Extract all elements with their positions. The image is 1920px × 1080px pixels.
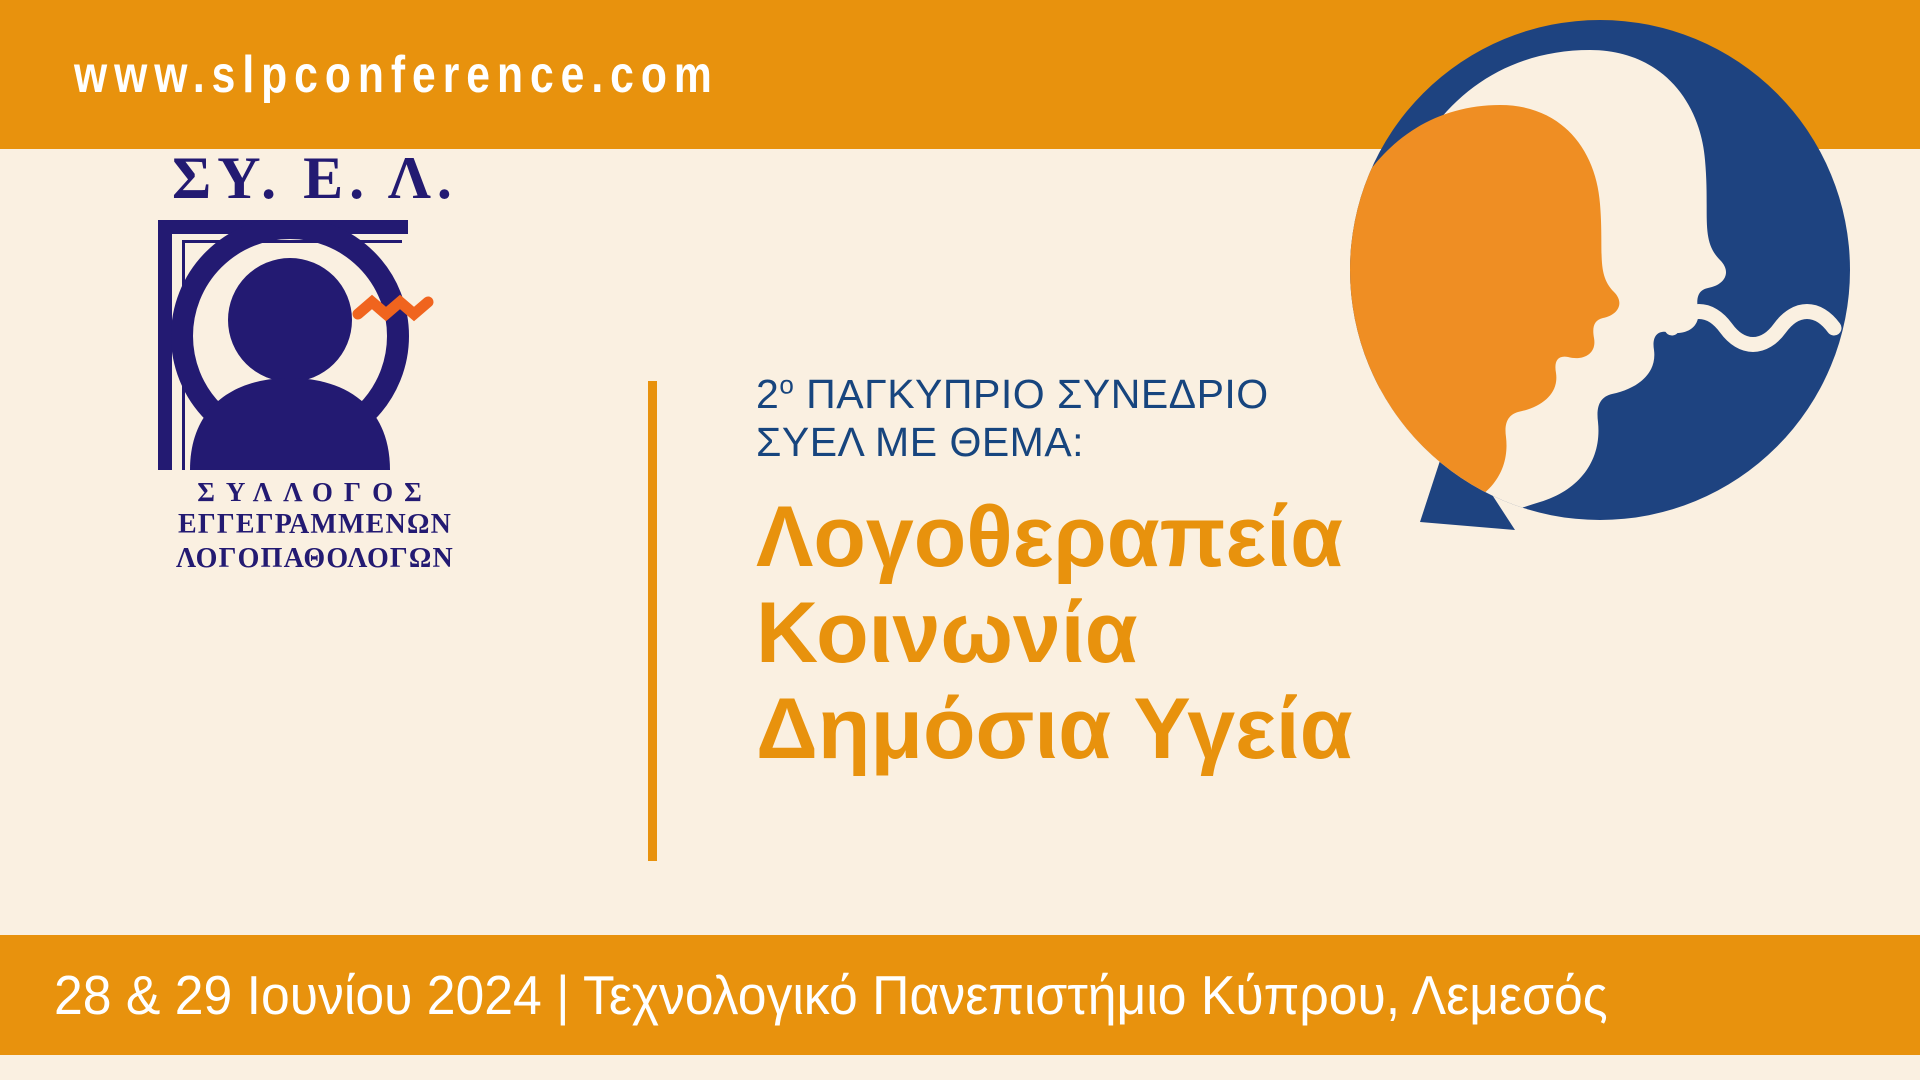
eyebrow-line-1-rest: ΠΑΓΚΥΠΡΙΟ ΣΥΝΕΔΡΙΟ	[794, 371, 1268, 417]
eyebrow-ordinal-number: 2	[756, 371, 779, 417]
headline-line-3: Δημόσια Υγεία	[756, 681, 1536, 777]
conference-banner: www.slpconference.com ΣΥ. Ε. Λ.	[0, 0, 1920, 1080]
logo-subtitle-line-3: ΛΟΓΟΠΑΘΟΛΟΓΩΝ	[150, 542, 480, 576]
logo-subtitle: ΣΥΛΛΟΓΟΣ ΕΓΓΕΓΡΑΜΜΕΝΩΝ ΛΟΓΟΠΑΘΟΛΟΓΩΝ	[150, 476, 480, 576]
eyebrow-ordinal-suffix: ο	[779, 369, 794, 399]
bottom-cream-strip	[0, 1055, 1920, 1080]
two-faces-illustration	[1300, 10, 1860, 630]
logo-acronym: ΣΥ. Ε. Λ.	[172, 148, 458, 208]
vertical-divider	[648, 381, 657, 861]
dates-venue-bar: 28 & 29 Ιουνίου 2024 | Τεχνολογικό Πανεπ…	[0, 935, 1920, 1055]
syel-logo: ΣΥ. Ε. Λ. ΣΥΛΛΟΓΟΣ ΕΓΓΕΓΡΑΜΜΕΝΩ	[150, 148, 480, 568]
logo-subtitle-line-1: ΣΥΛΛΟΓΟΣ	[150, 476, 480, 508]
website-url[interactable]: www.slpconference.com	[74, 49, 719, 101]
logo-subtitle-line-2: ΕΓΓΕΓΡΑΜΜΕΝΩΝ	[150, 508, 480, 542]
logo-mark-icon	[150, 220, 480, 470]
dates-and-venue-text: 28 & 29 Ιουνίου 2024 | Τεχνολογικό Πανεπ…	[54, 968, 1608, 1023]
